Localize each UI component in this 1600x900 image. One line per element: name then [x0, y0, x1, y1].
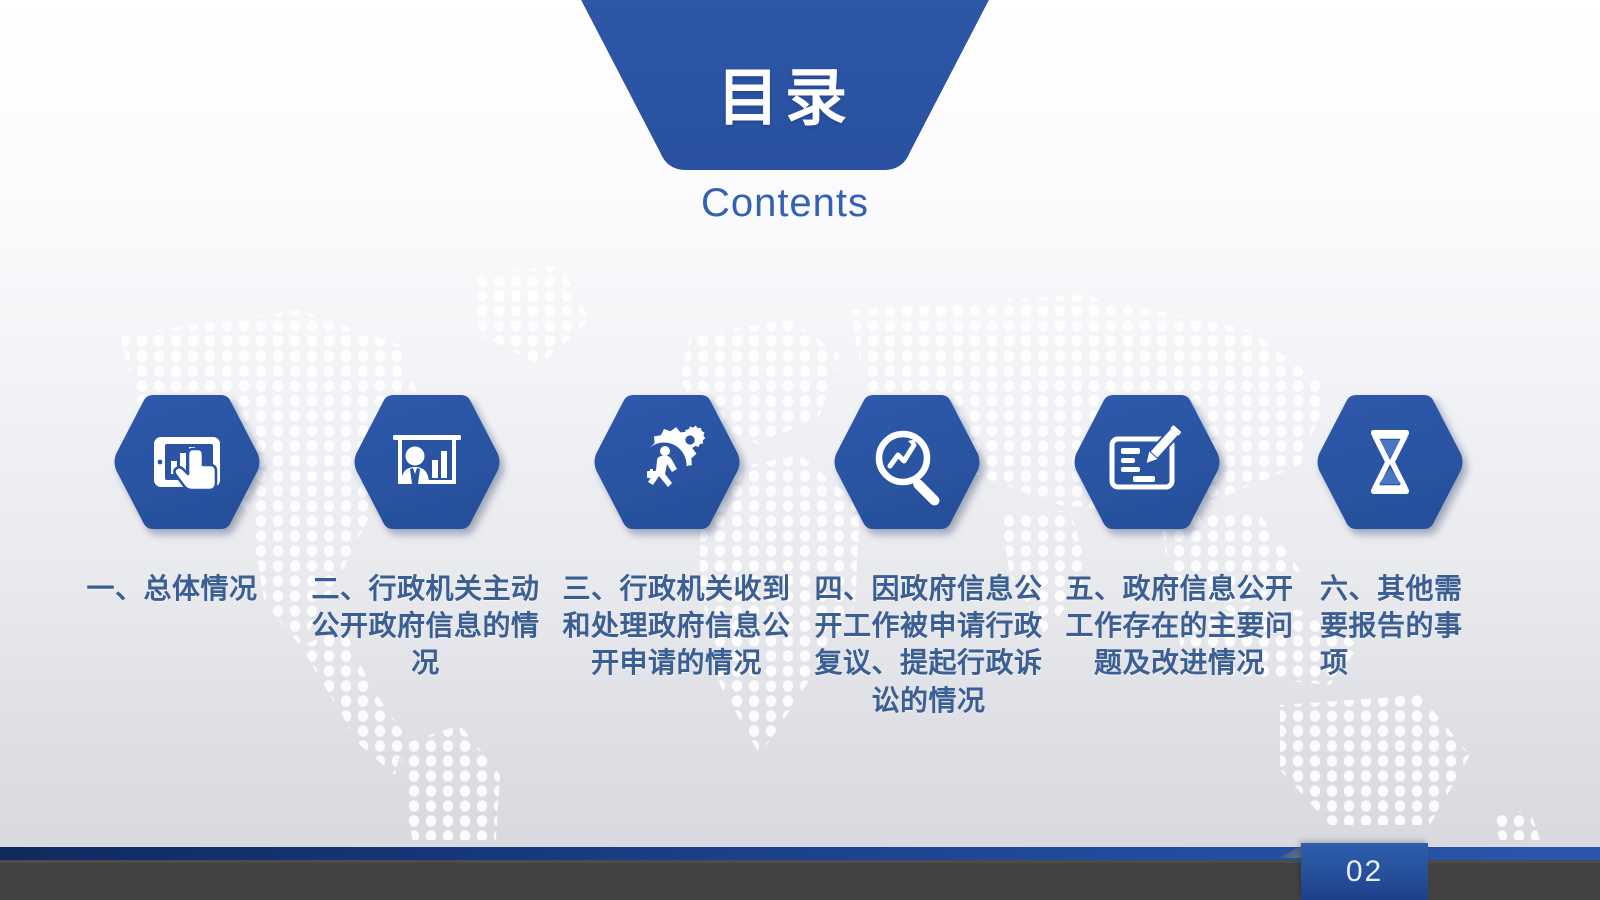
hexagon-item-5[interactable]	[1073, 392, 1221, 532]
caption-item-6: 六、其他需要报告的事项	[1320, 570, 1470, 682]
caption-row: 一、总体情况 二、行政机关主动公开政府信息的情况 三、行政机关收到和处理政府信息…	[0, 570, 1600, 760]
slide-contents-page: 目录 Contents	[0, 0, 1600, 900]
caption-item-4: 四、因政府信息公开工作被申请行政复议、提起行政诉讼的情况	[806, 570, 1051, 719]
tablet-bar-chart-touch-icon	[154, 437, 220, 490]
caption-item-2: 二、行政机关主动公开政府信息的情况	[303, 570, 548, 682]
hexagon-item-1[interactable]	[113, 392, 261, 532]
page-title-en: Contents	[570, 183, 1000, 223]
caption-item-3: 三、行政机关收到和处理政府信息公开申请的情况	[554, 570, 799, 682]
page-number-badge: 02	[1301, 843, 1428, 900]
hexagon-item-6[interactable]	[1316, 392, 1464, 532]
hexagon-item-3[interactable]	[593, 392, 741, 532]
hexagon-item-2[interactable]	[353, 392, 501, 532]
page-title-cn: 目录	[570, 68, 1000, 130]
hexagon-icon-row	[0, 392, 1600, 537]
caption-item-1: 一、总体情况	[63, 570, 281, 607]
hexagon-item-4[interactable]	[833, 392, 981, 532]
caption-item-5: 五、政府信息公开工作存在的主要问题及改进情况	[1057, 570, 1302, 682]
